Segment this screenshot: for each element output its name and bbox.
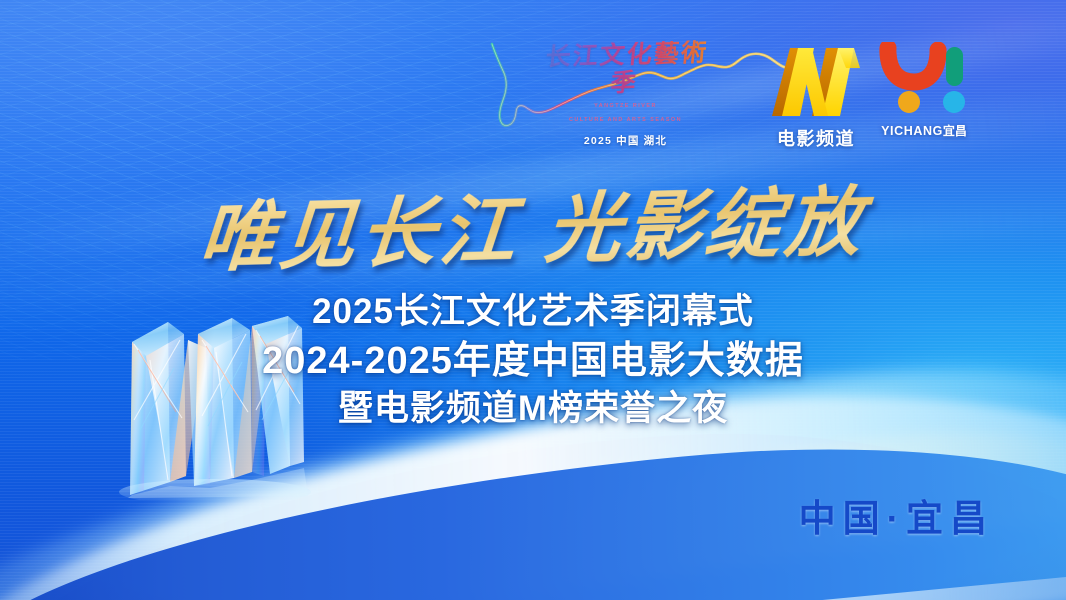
subtitle-block: 2025长江文化艺术季闭幕式 2024-2025年度中国电影大数据 暨电影频道M… (0, 290, 1066, 432)
season-title-cn: 长江文化藝術季 (530, 39, 721, 99)
yichang-caption: YICHANG宜昌 (872, 122, 976, 139)
event-poster: 长江文化藝術季 YANGTZE RIVER CULTURE AND ARTS S… (0, 0, 1066, 600)
yichang-caption-cn: 宜昌 (943, 124, 967, 138)
page-title: 唯见长江光影绽放 (0, 155, 1066, 291)
headline-part-2: 光影绽放 (542, 181, 869, 273)
season-subtitle-en-2: CULTURE AND ARTS SEASON (533, 115, 718, 125)
yangtze-season-wordmark: 长江文化藝術季 YANGTZE RIVER CULTURE AND ARTS S… (533, 42, 718, 140)
headline-part-1: 唯见长江 (196, 189, 523, 281)
movie-channel-caption: 电影频道 (768, 125, 864, 151)
movie-channel-logo: 电影频道 (768, 44, 864, 140)
subtitle-line-2: 2024-2025年度中国电影大数据 (262, 337, 804, 386)
season-year-location: 2025 中国 湖北 (533, 133, 718, 148)
m-mark-icon (768, 44, 864, 118)
logo-band: 长江文化藝術季 YANGTZE RIVER CULTURE AND ARTS S… (0, 0, 1066, 150)
subtitle-line-3: 暨电影频道M榜荣誉之夜 (338, 387, 728, 432)
headline-spacer (517, 256, 543, 257)
city-label: 中国·宜昌 (799, 488, 994, 542)
yichang-caption-en: YICHANG (881, 124, 943, 138)
yichang-mark-icon (872, 42, 976, 114)
subtitle-line-1: 2025长江文化艺术季闭幕式 (312, 290, 754, 335)
yichang-logo: YICHANG宜昌 (872, 42, 976, 140)
season-subtitle-en-1: YANGTZE RIVER (533, 101, 718, 111)
